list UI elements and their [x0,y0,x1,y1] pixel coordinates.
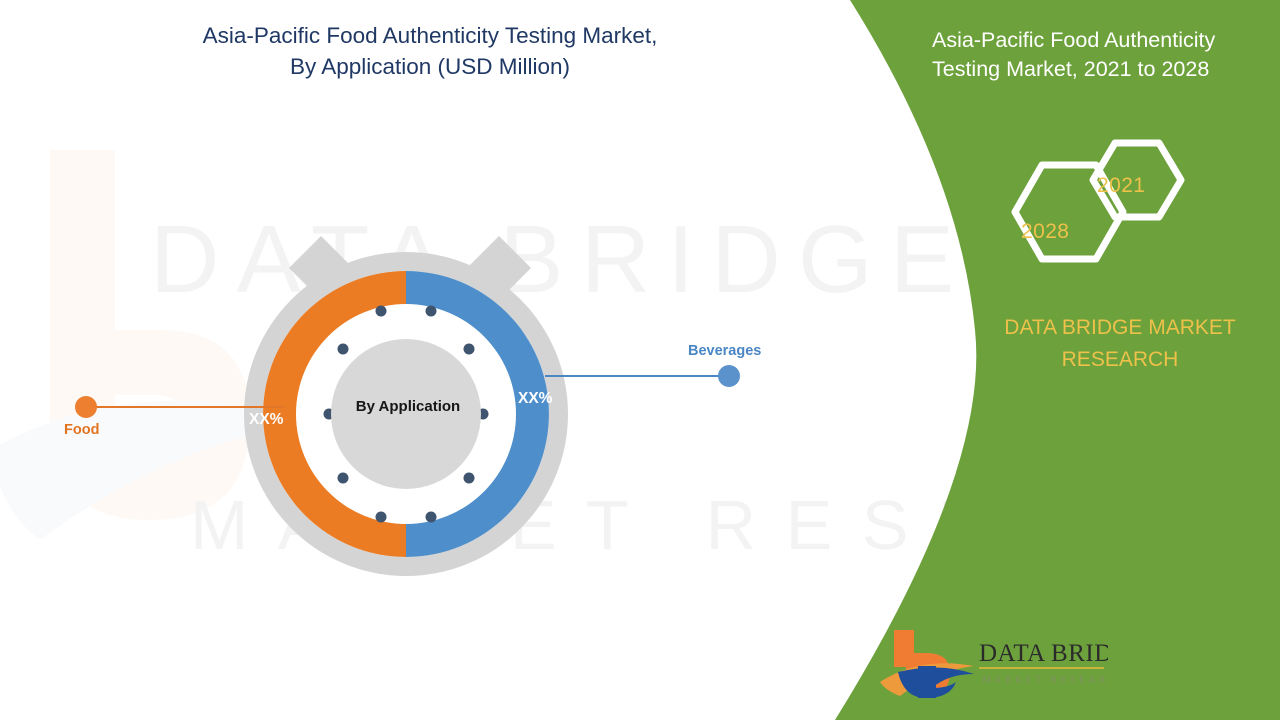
hexagon-badges [985,135,1185,290]
green-panel-title-line-2: Testing Market, 2021 to 2028 [932,55,1262,84]
page-title: Asia-Pacific Food Authenticity Testing M… [100,20,760,82]
brand-name-line-2: RESEARCH [975,344,1265,376]
hexagon-label-2021: 2021 [1097,174,1145,198]
page-title-line-2: By Application (USD Million) [100,51,760,82]
green-panel-title-line-1: Asia-Pacific Food Authenticity [932,26,1262,55]
brand-name: DATA BRIDGE MARKET RESEARCH [975,312,1265,376]
data-bridge-logo: DATA BRIDGE MARKET RESEARCH [878,628,1108,700]
callout-dot-beverages[interactable] [718,365,740,387]
stopwatch-donut-chart [225,150,595,610]
callout-label-beverages[interactable]: Beverages [688,343,761,359]
logo-mark-icon [880,630,974,698]
brand-name-line-1: DATA BRIDGE MARKET [975,312,1265,344]
infographic-canvas: DATA BRIDGE MARKET RESEARCH Asia-Pacific… [0,0,1280,720]
page-title-line-1: Asia-Pacific Food Authenticity Testing M… [100,20,760,51]
slice-value-food: XX% [249,411,283,429]
slice-value-beverages: XX% [518,390,552,408]
donut-center-label: By Application [308,398,508,415]
callout-dot-food[interactable] [75,396,97,418]
logo-tagline: MARKET RESEARCH [982,675,1108,686]
logo-wordmark: DATA BRIDGE [979,640,1108,667]
callout-label-food[interactable]: Food [64,422,99,438]
hexagon-label-2028: 2028 [1021,220,1069,244]
callout-line-beverages [545,375,730,377]
callout-line-food [95,406,285,408]
green-panel-title: Asia-Pacific Food Authenticity Testing M… [932,26,1262,84]
